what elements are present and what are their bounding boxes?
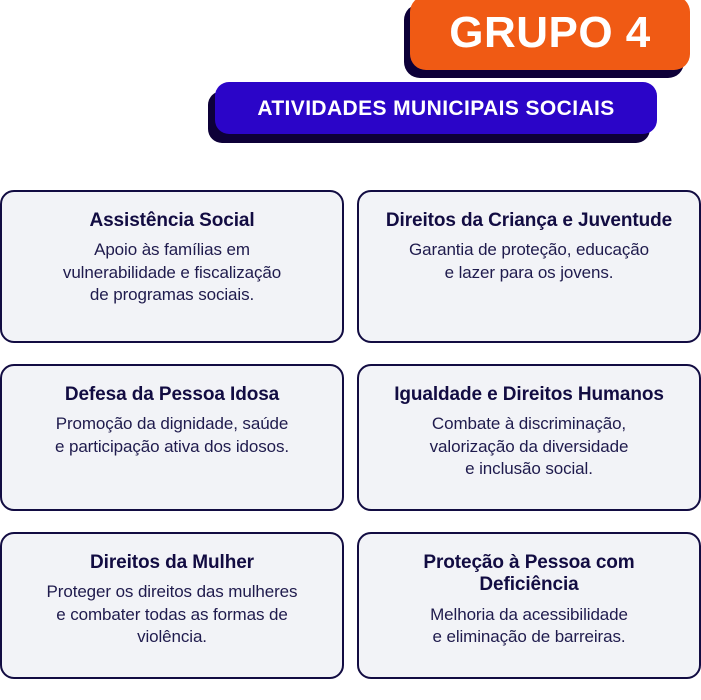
cards-grid: Assistência Social Apoio às famílias em …: [0, 190, 701, 700]
card-igualdade-e-direitos-humanos: Igualdade e Direitos Humanos Combate à d…: [357, 364, 701, 511]
card-title: Igualdade e Direitos Humanos: [373, 384, 685, 406]
card-description: Garantia de proteção, educação e lazer p…: [373, 239, 685, 283]
card-description: Combate à discriminação, valorização da …: [373, 413, 685, 479]
card-title: Direitos da Criança e Juventude: [373, 210, 685, 232]
subtitle-badge: ATIVIDADES MUNICIPAIS SOCIAIS: [215, 82, 657, 134]
header: GRUPO 4 ATIVIDADES MUNICIPAIS SOCIAIS: [0, 0, 701, 180]
card-description: Melhoria da acessibilidade e eliminação …: [373, 604, 685, 648]
card-title: Proteção à Pessoa com Deficiência: [373, 552, 685, 597]
card-description: Proteger os direitos das mulheres e comb…: [16, 581, 328, 647]
card-assistencia-social: Assistência Social Apoio às famílias em …: [0, 190, 344, 343]
card-protecao-a-pessoa-com-deficiencia: Proteção à Pessoa com Deficiência Melhor…: [357, 532, 701, 679]
cards-row-1: Assistência Social Apoio às famílias em …: [0, 190, 701, 343]
cards-row-2: Defesa da Pessoa Idosa Promoção da digni…: [0, 364, 701, 511]
card-title: Direitos da Mulher: [16, 552, 328, 574]
card-direitos-da-crianca-e-juventude: Direitos da Criança e Juventude Garantia…: [357, 190, 701, 343]
group-badge: GRUPO 4: [410, 0, 690, 70]
cards-row-3: Direitos da Mulher Proteger os direitos …: [0, 532, 701, 679]
subtitle-badge-label: ATIVIDADES MUNICIPAIS SOCIAIS: [257, 98, 614, 119]
group-badge-label: GRUPO 4: [449, 11, 651, 55]
card-title: Defesa da Pessoa Idosa: [16, 384, 328, 406]
card-description: Promoção da dignidade, saúde e participa…: [16, 413, 328, 457]
card-defesa-da-pessoa-idosa: Defesa da Pessoa Idosa Promoção da digni…: [0, 364, 344, 511]
card-title: Assistência Social: [16, 210, 328, 232]
card-direitos-da-mulher: Direitos da Mulher Proteger os direitos …: [0, 532, 344, 679]
card-description: Apoio às famílias em vulnerabilidade e f…: [16, 239, 328, 305]
group-badge-face: GRUPO 4: [410, 0, 690, 70]
subtitle-badge-face: ATIVIDADES MUNICIPAIS SOCIAIS: [215, 82, 657, 134]
